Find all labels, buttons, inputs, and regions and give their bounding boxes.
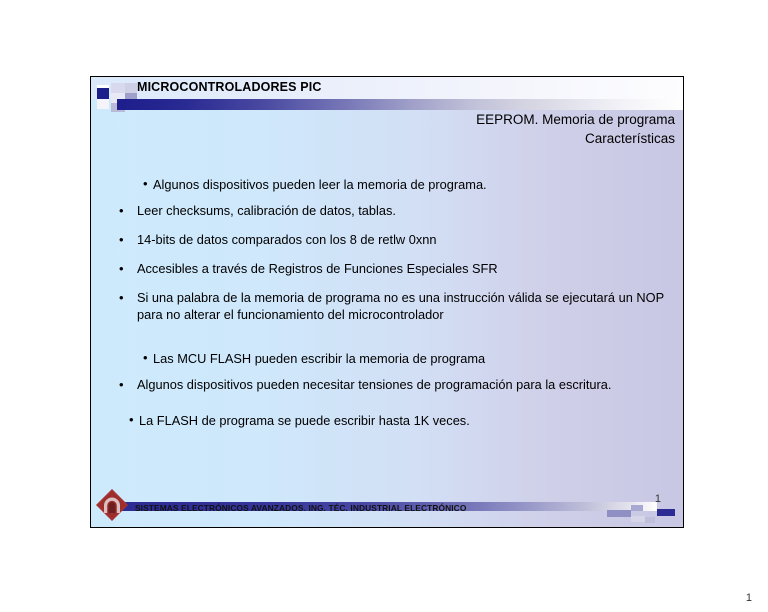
bullet-marker: • — [119, 202, 124, 219]
list-item: • La FLASH de programa se puede escribir… — [91, 413, 684, 429]
list-item-text: La FLASH de programa se puede escribir h… — [139, 413, 470, 428]
list-item-text: Accesibles a través de Registros de Func… — [137, 261, 498, 276]
slide-subtitle-line-1: EEPROM. Memoria de programa — [255, 110, 675, 129]
document-page: MICROCONTROLADORES PIC EEPROM. Memoria d… — [0, 0, 768, 612]
institution-logo-icon — [95, 488, 129, 522]
list-item-text: Algunos dispositivos pueden leer la memo… — [153, 177, 487, 192]
list-item: • Si una palabra de la memoria de progra… — [91, 289, 684, 323]
list-item: • Las MCU FLASH pueden escribir la memor… — [91, 351, 684, 367]
bullet-marker: • — [119, 376, 124, 393]
list-item-text: Leer checksums, calibración de datos, ta… — [137, 203, 396, 218]
bullet-marker: • — [119, 289, 124, 306]
bullet-marker: • — [119, 260, 124, 277]
presentation-slide: MICROCONTROLADORES PIC EEPROM. Memoria d… — [90, 76, 684, 528]
slide-body: • Algunos dispositivos pueden leer la me… — [91, 177, 684, 438]
list-item-text: Algunos dispositivos pueden necesitar te… — [137, 377, 611, 392]
list-item: • Leer checksums, calibración de datos, … — [91, 202, 684, 219]
list-item-text: 14-bits de datos comparados con los 8 de… — [137, 232, 436, 247]
slide-subtitle-line-2: Características — [255, 129, 675, 148]
bullet-marker: • — [143, 176, 148, 192]
header-gradient-rule — [117, 99, 684, 110]
list-item: • 14-bits de datos comparados con los 8 … — [91, 231, 684, 248]
list-item: • Accesibles a través de Registros de Fu… — [91, 260, 684, 277]
footer-text: SISTEMAS ELECTRÓNICOS AVANZADOS. ING. TÉ… — [135, 503, 466, 513]
slide-subtitle: EEPROM. Memoria de programa Característi… — [255, 110, 675, 148]
document-page-number: 1 — [746, 592, 752, 604]
slide-title: MICROCONTROLADORES PIC — [137, 80, 322, 94]
bullet-marker: • — [119, 231, 124, 248]
bullet-list: • Algunos dispositivos pueden leer la me… — [91, 177, 684, 429]
bullet-marker: • — [129, 412, 134, 428]
list-item: • Algunos dispositivos pueden leer la me… — [91, 177, 684, 193]
bullet-marker: • — [143, 350, 148, 366]
sub-bullet-list: • Leer checksums, calibración de datos, … — [91, 202, 684, 323]
list-item: • Algunos dispositivos pueden necesitar … — [91, 376, 684, 393]
list-item-text: Las MCU FLASH pueden escribir la memoria… — [153, 351, 485, 366]
sub-bullet-list: • Algunos dispositivos pueden necesitar … — [91, 376, 684, 393]
list-item-text: Si una palabra de la memoria de programa… — [137, 290, 664, 322]
slide-number: 1 — [655, 493, 661, 505]
